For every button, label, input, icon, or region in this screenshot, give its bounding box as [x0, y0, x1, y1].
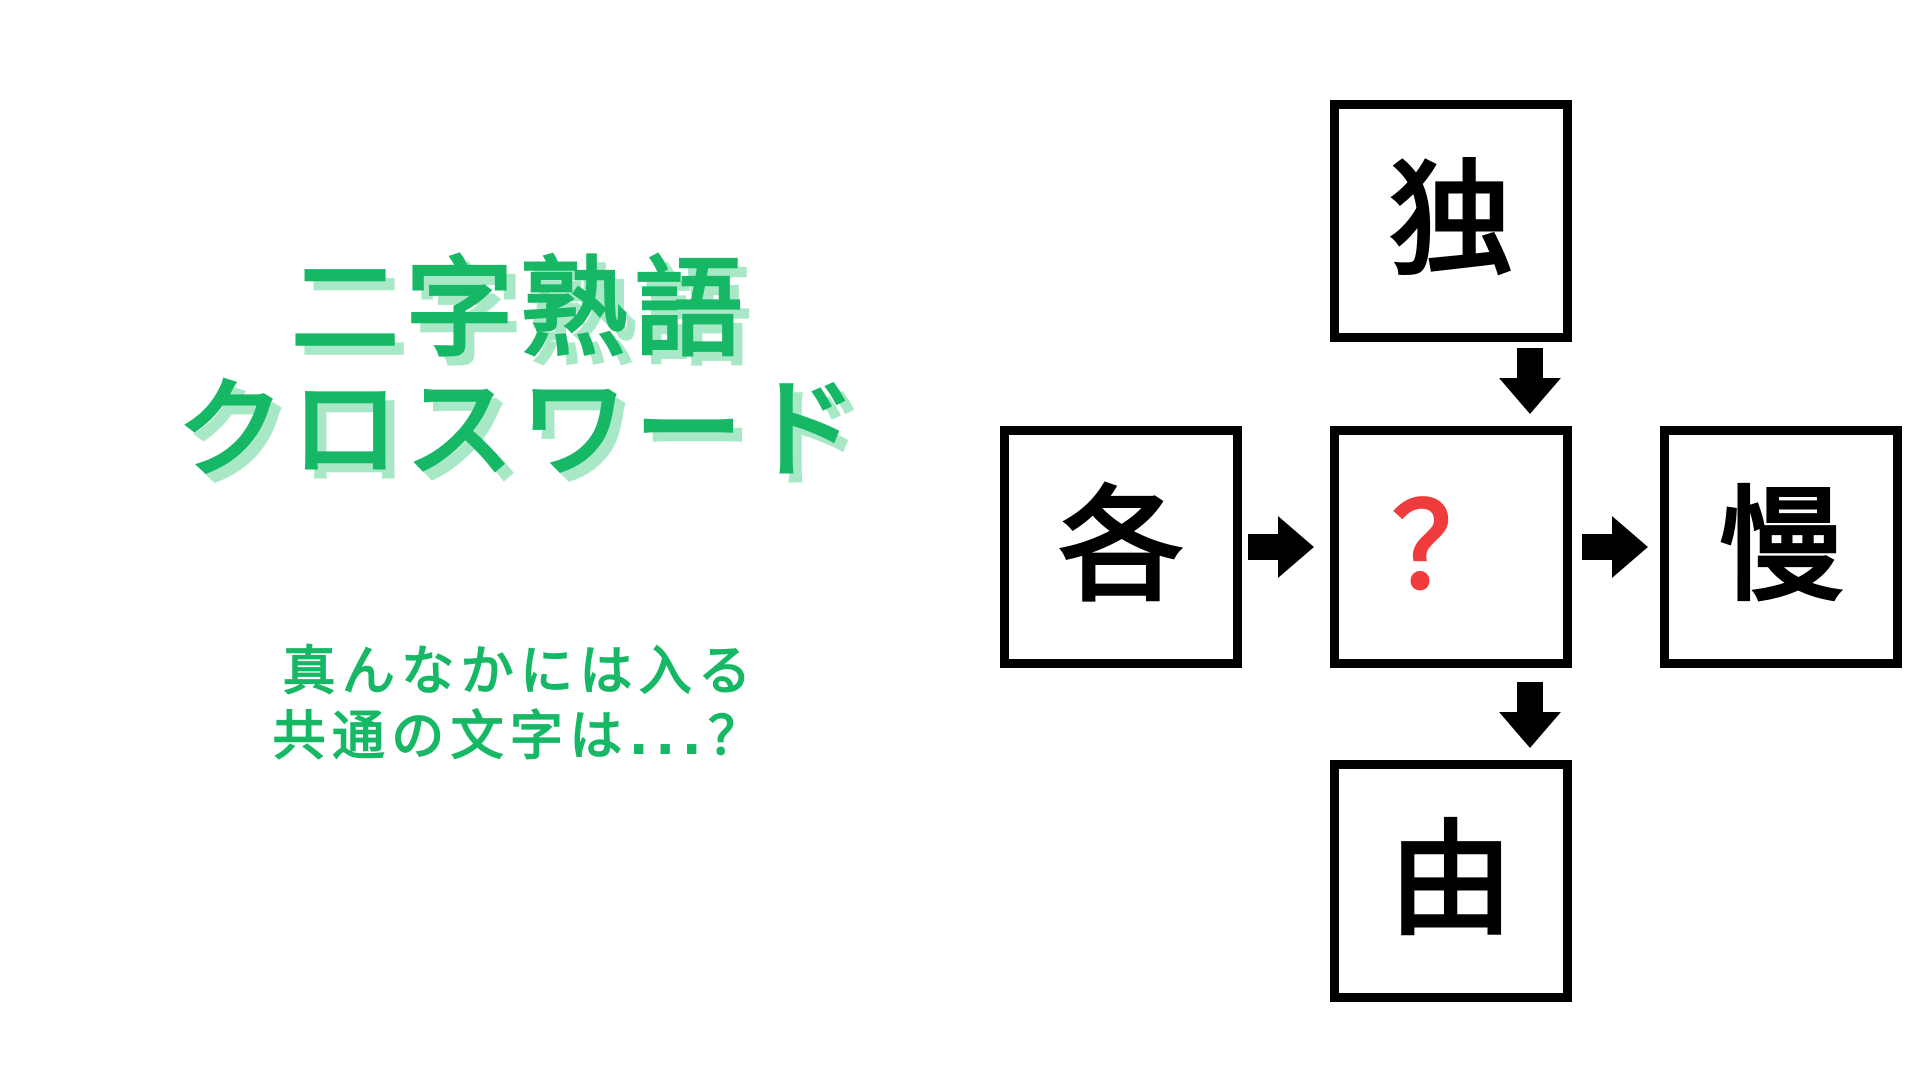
arrow-right-icon-left-to-center	[1248, 516, 1314, 578]
puzzle-cell-top-glyph: 独	[1389, 159, 1513, 283]
arrow-head	[1612, 516, 1648, 578]
puzzle-cell-right: 慢	[1660, 426, 1902, 668]
page-title-line-1: 二字熟語	[60, 250, 980, 371]
puzzle-cell-bottom: 由	[1330, 760, 1572, 1002]
puzzle-cell-left-glyph: 各	[1059, 485, 1183, 609]
arrow-head	[1278, 516, 1314, 578]
arrow-down-icon-top-to-center	[1499, 348, 1561, 414]
puzzle-cell-top: 独	[1330, 100, 1572, 342]
title-block: 二字熟語 クロスワード	[60, 250, 980, 492]
puzzle-cell-right-glyph: 慢	[1719, 485, 1843, 609]
question-mark-glyph: ？	[1392, 488, 1510, 606]
arrow-right-icon-center-to-right	[1582, 516, 1648, 578]
puzzle-cell-bottom-glyph: 由	[1389, 819, 1513, 943]
slide-canvas: 二字熟語 クロスワード 真んなかには入る 共通の文字は...？ 独 各 ？ 慢 …	[0, 0, 1920, 1080]
page-title-line-2: クロスワード	[60, 371, 980, 492]
puzzle-cell-left: 各	[1000, 426, 1242, 668]
subtitle-block: 真んなかには入る 共通の文字は...？	[60, 640, 980, 769]
arrow-head	[1499, 378, 1561, 414]
kanji-crossword-diagram: 独 各 ？ 慢 由	[960, 60, 1920, 1020]
arrow-head	[1499, 712, 1561, 748]
subtitle-line-2: 共通の文字は...？	[60, 705, 980, 770]
puzzle-cell-center-answer[interactable]: ？	[1330, 426, 1572, 668]
arrow-down-icon-center-to-bottom	[1499, 682, 1561, 748]
subtitle-line-1: 真んなかには入る	[60, 640, 980, 705]
